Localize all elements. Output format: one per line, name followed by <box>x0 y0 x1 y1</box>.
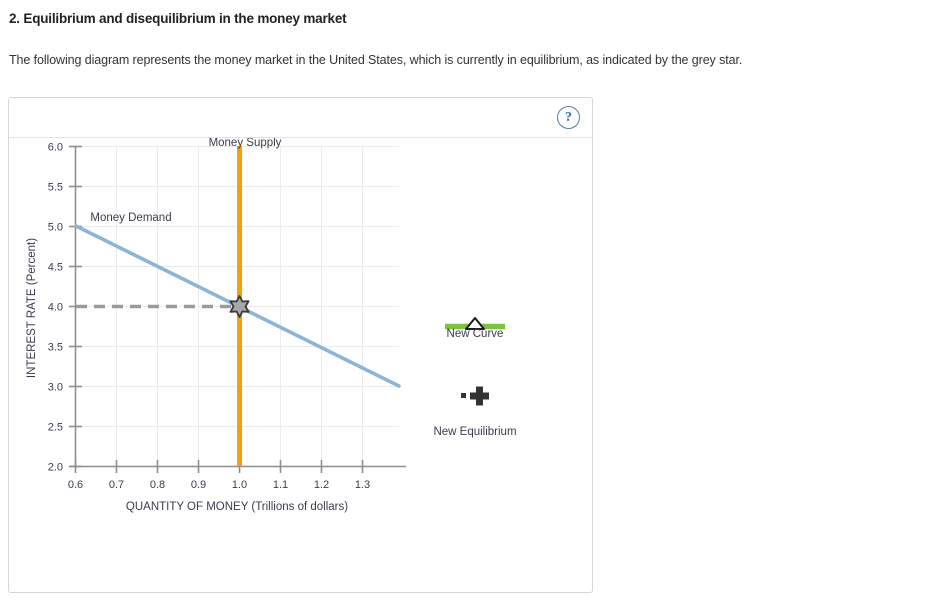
money-market-chart: 6.0 5.5 5.0 4.5 4.0 3.5 3.0 2.5 2.0 0.6 … <box>9 138 592 592</box>
legend: New Curve New Equilibrium <box>433 318 516 438</box>
y-tick-label: 5.0 <box>48 222 63 234</box>
question-title: 2. Equilibrium and disequilibrium in the… <box>9 11 346 26</box>
equilibrium-star[interactable] <box>230 296 248 317</box>
x-tick-labels: 0.6 0.7 0.8 0.9 1.0 1.1 1.2 1.3 <box>68 479 370 491</box>
x-tick-label: 0.7 <box>109 479 124 491</box>
y-tick-label: 6.0 <box>48 142 63 154</box>
x-tick-label: 1.2 <box>314 479 329 491</box>
y-tick-label: 2.5 <box>48 422 63 434</box>
x-axis-title: QUANTITY OF MONEY (Trillions of dollars) <box>126 501 348 513</box>
money-demand-label: Money Demand <box>90 212 171 224</box>
legend-item-new-curve[interactable]: New Curve <box>445 318 505 340</box>
panel-header: ? <box>9 98 592 138</box>
x-tick-label: 0.8 <box>150 479 165 491</box>
y-tick-labels: 6.0 5.5 5.0 4.5 4.0 3.5 3.0 2.5 2.0 <box>48 142 63 474</box>
y-axis-title: INTEREST RATE (Percent) <box>26 238 38 378</box>
square-dot-icon[interactable] <box>461 393 466 398</box>
legend-item-new-equilibrium[interactable]: New Equilibrium <box>433 382 516 438</box>
help-icon[interactable]: ? <box>557 106 580 129</box>
y-tick-label: 2.0 <box>48 462 63 474</box>
x-tick-label: 1.3 <box>355 479 370 491</box>
y-tick-label: 5.5 <box>48 182 63 194</box>
y-tick-label: 3.5 <box>48 342 63 354</box>
y-tick-label: 4.0 <box>48 302 63 314</box>
x-tick-label: 0.6 <box>68 479 83 491</box>
y-tick-label: 3.0 <box>48 382 63 394</box>
legend-label-new-equilibrium: New Equilibrium <box>433 426 516 438</box>
chart-svg: 6.0 5.5 5.0 4.5 4.0 3.5 3.0 2.5 2.0 0.6 … <box>9 138 592 592</box>
x-tick-label: 1.0 <box>232 479 247 491</box>
graph-panel: ? <box>8 97 593 593</box>
y-tick-label: 4.5 <box>48 262 63 274</box>
money-supply-label: Money Supply <box>209 138 282 149</box>
question-intro: The following diagram represents the mon… <box>9 53 742 67</box>
legend-label-new-curve: New Curve <box>447 328 504 340</box>
x-tick-label: 1.1 <box>273 479 288 491</box>
plus-cross-shape[interactable] <box>470 387 489 406</box>
x-tick-label: 0.9 <box>191 479 206 491</box>
